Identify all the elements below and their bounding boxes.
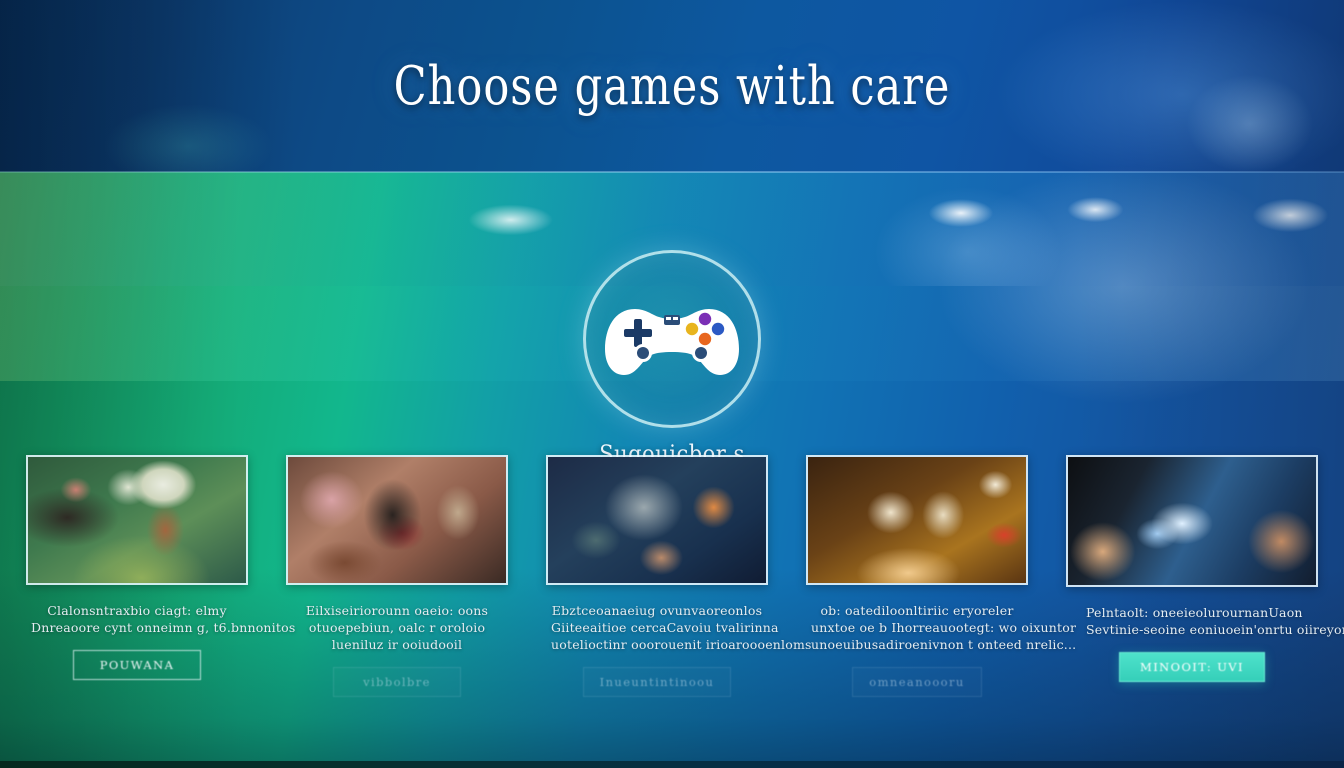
- page-header: Choose games with care: [0, 0, 1344, 172]
- card-caption: Ebztceoanaeiug ovunvaoreonlosGiiteeaitio…: [551, 602, 763, 653]
- card-caption-line: otuoepebiun, oalc r oroloio: [306, 619, 488, 636]
- card-thumbnail-3[interactable]: [546, 455, 768, 585]
- card-thumbnail-4[interactable]: [806, 455, 1028, 585]
- card-action-button[interactable]: POUWANA: [73, 650, 201, 680]
- game-card[interactable]: Clalonsntraxbio ciagt: elmyDnreaoore cyn…: [28, 455, 246, 680]
- card-caption-line: ob: oatediloonltiriic eryoreler: [811, 602, 1023, 619]
- thumbnail-image: [548, 457, 766, 583]
- card-row: Clalonsntraxbio ciagt: elmyDnreaoore cyn…: [0, 455, 1344, 697]
- card-caption-line: Clalonsntraxbio ciagt: elmy: [31, 602, 243, 619]
- card-thumbnail-2[interactable]: [286, 455, 508, 585]
- thumbnail-image: [28, 457, 246, 583]
- card-caption-line: lueniluz ir ooiudooil: [306, 636, 488, 653]
- card-caption-line: Sevtinie-seoine eoniuoein'onrtu oiireyon…: [1086, 621, 1298, 638]
- card-caption: ob: oatediloonltiriic eryorelerunxtoe oe…: [811, 602, 1023, 653]
- background-bottom-strip: [0, 761, 1344, 768]
- card-action-button[interactable]: vibbolbre: [333, 667, 461, 697]
- card-caption-line: Pelntaolt: oneeieolurournanUaon: [1086, 604, 1298, 621]
- card-caption: Pelntaolt: oneeieolurournanUaonSevtinie-…: [1086, 604, 1298, 638]
- game-card[interactable]: ob: oatediloonltiriic eryorelerunxtoe oe…: [808, 455, 1026, 697]
- game-card[interactable]: Ebztceoanaeiug ovunvaoreonlosGiiteeaitio…: [548, 455, 766, 697]
- card-caption-line: Dnreaoore cynt onneimn g, t6.bnnonitos: [31, 619, 243, 636]
- game-card[interactable]: Pelntaolt: oneeieolurournanUaonSevtinie-…: [1068, 455, 1316, 682]
- card-thumbnail-1[interactable]: [26, 455, 248, 585]
- card-action-button[interactable]: MINOOIT: UVI: [1119, 652, 1265, 682]
- card-action-button[interactable]: Inueuntintinoou: [583, 667, 732, 697]
- game-card[interactable]: Eilxiseiriorounn oaeio: oonsotuoepebiun,…: [288, 455, 506, 697]
- card-caption-line: Ebztceoanaeiug ovunvaoreonlos: [551, 602, 763, 619]
- card-caption: Eilxiseiriorounn oaeio: oonsotuoepebiun,…: [306, 602, 488, 653]
- card-caption-line: unoeuibusadiroenivnon t onteed nrelic...: [811, 636, 1023, 653]
- brand-block: Sugouicbor s: [0, 250, 1344, 466]
- card-caption-line: Eilxiseiriorounn oaeio: oons: [306, 602, 488, 619]
- card-caption-line: unxtoe oe b Ihorreauootegt: wo oixuntor: [811, 619, 1023, 636]
- thumbnail-image: [1068, 457, 1316, 585]
- card-caption-line: Giiteeaitioe cercaCavoiu tvalirinna: [551, 619, 763, 636]
- brand-circle: [583, 250, 761, 428]
- thumbnail-image: [288, 457, 506, 583]
- card-caption-line: uotelioctinr ooorouenit irioaroooenloms: [551, 636, 763, 653]
- card-thumbnail-5[interactable]: [1066, 455, 1318, 587]
- card-action-button[interactable]: omneanoooru: [852, 667, 981, 697]
- gamepad-icon: [602, 291, 742, 387]
- page-root: Choose games with care Sugouicbor s: [0, 0, 1344, 768]
- thumbnail-image: [808, 457, 1026, 583]
- page-title: Choose games with care: [394, 55, 951, 117]
- card-caption: Clalonsntraxbio ciagt: elmyDnreaoore cyn…: [31, 602, 243, 636]
